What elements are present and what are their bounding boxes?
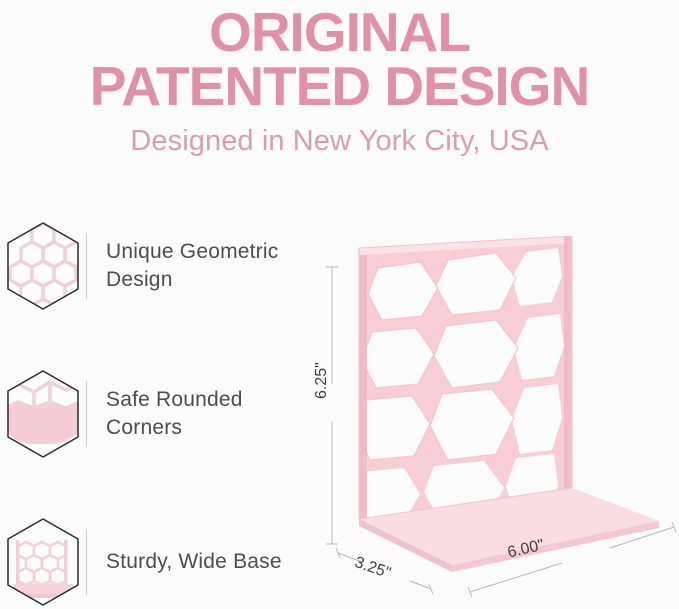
feature-item-sturdy-wide-base: Sturdy, Wide Base [0,514,330,609]
feature-label-safe-rounded-corners: Safe Rounded Corners [106,386,243,442]
header: ORIGINAL PATENTED DESIGN Designed in New… [0,0,679,158]
feature-label-line-2: Corners [106,416,182,439]
subtitle: Designed in New York City, USA [0,125,679,158]
hexagon-rounded-corner-icon [2,366,84,462]
hexagon-wide-base-icon [2,514,84,609]
product-infographic: ORIGINAL PATENTED DESIGN Designed in New… [0,0,679,609]
feature-label-sturdy-wide-base: Sturdy, Wide Base [106,548,282,576]
feature-label-line-1: Unique Geometric [106,240,278,263]
hexagon-honeycomb-icon [2,218,84,314]
feature-label-line-1: Sturdy, Wide Base [106,550,282,573]
feature-divider [86,529,87,595]
headline-line-2: PATENTED DESIGN [0,60,679,113]
feature-divider [86,381,87,447]
feature-label-line-1: Safe Rounded [106,388,243,411]
feature-label-unique-geometric-design: Unique Geometric Design [106,238,278,294]
headline-line-1: ORIGINAL [0,6,679,59]
feature-divider [86,233,87,299]
feature-item-safe-rounded-corners: Safe Rounded Corners [0,366,330,462]
feature-label-line-2: Design [106,268,173,291]
product-image-honeycomb-bookend: 6.25" 3.25" 6.00" [300,236,679,609]
bookend-panel [350,236,572,522]
dimension-label-height: 6.25" [313,362,331,399]
feature-item-unique-geometric-design: Unique Geometric Design [0,218,330,314]
